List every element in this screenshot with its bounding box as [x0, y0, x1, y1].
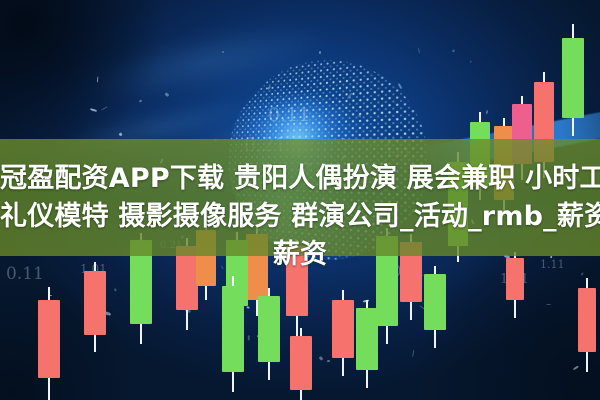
candle-body — [356, 308, 378, 370]
candlestick — [356, 300, 378, 388]
candle-body — [424, 274, 446, 330]
candlestick — [290, 328, 312, 400]
candlestick — [222, 276, 244, 392]
candle-body — [38, 300, 60, 378]
candlestick — [258, 288, 280, 380]
caption-line-1: 冠盈配资APP下载 贵阳人偶扮演 展会兼职 小时工 — [0, 160, 600, 198]
particle — [118, 132, 122, 136]
caption-line-2: 礼仪模特 摄影摄像服务 群演公司_活动_rmb_薪资 — [0, 198, 600, 236]
particle — [248, 335, 250, 340]
candle-body — [84, 271, 106, 335]
candlestick — [424, 266, 446, 348]
candle-body — [290, 336, 312, 390]
candle-body — [222, 286, 244, 372]
candle-body — [258, 296, 280, 362]
caption-block: 冠盈配资APP下载 贵阳人偶扮演 展会兼职 小时工 礼仪模特 摄影摄像服务 群演… — [0, 160, 600, 274]
candlestick — [38, 287, 60, 400]
candle-body — [332, 300, 354, 358]
caption-line-3: 薪资 — [0, 236, 600, 274]
candlestick — [578, 278, 596, 372]
banner-image: 0.110.210.113.111.010.111.010.111.011.11… — [0, 0, 600, 400]
candlestick — [84, 262, 106, 352]
candle-body — [562, 38, 584, 118]
candlestick — [562, 24, 584, 136]
candle-body — [578, 288, 596, 352]
particle — [114, 288, 116, 291]
candlestick — [332, 290, 354, 376]
